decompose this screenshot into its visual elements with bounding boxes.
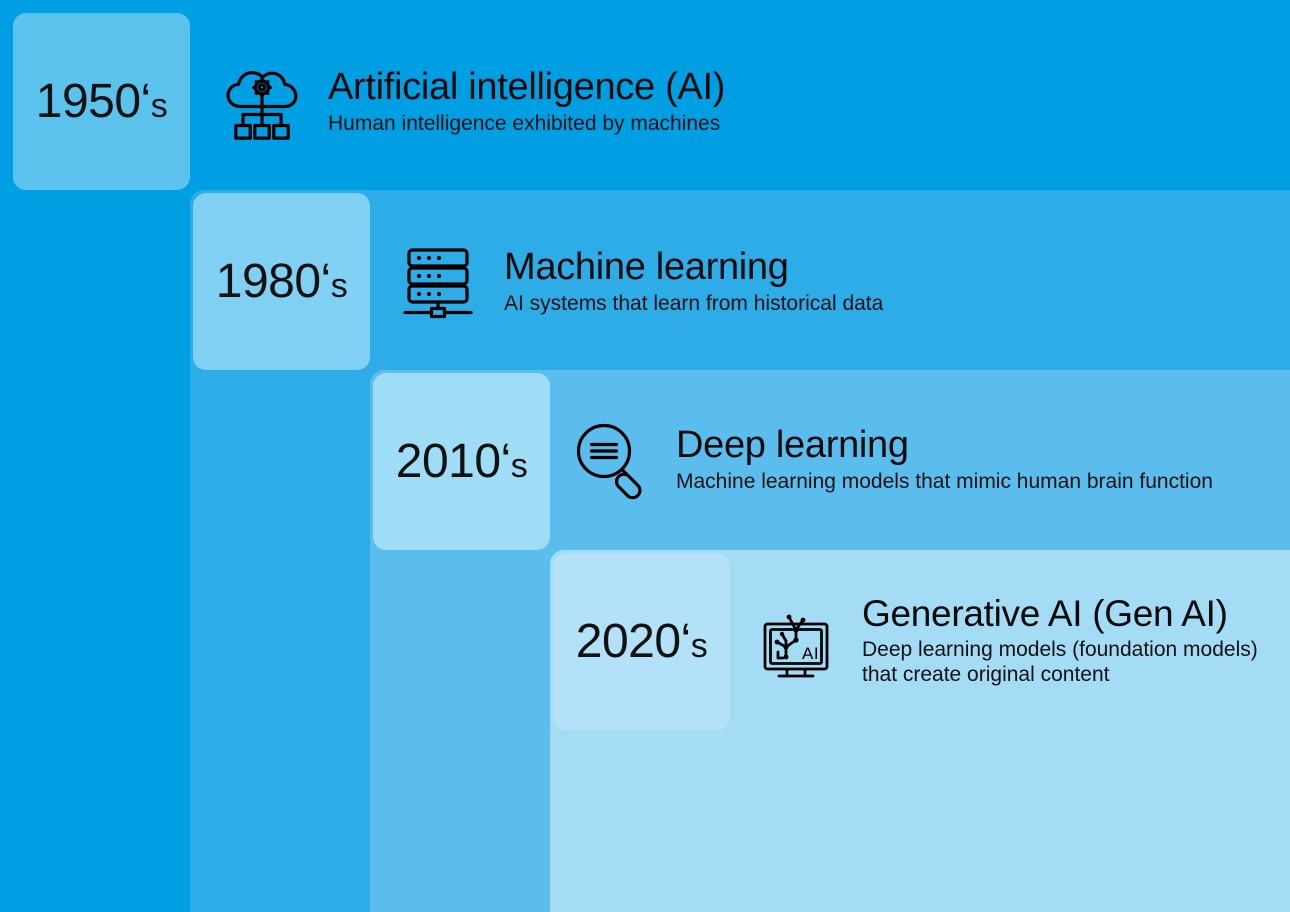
year-chip-2020s: 2020‘s [553,553,730,730]
cloud-network-gear-icon [218,58,306,146]
row-title-deep-learning: Deep learning [676,425,1213,466]
year-label-2010s: 2010‘s [396,434,527,489]
row-subtitle-artificial-intelligence: Human intelligence exhibited by machines [328,112,725,137]
row-title-generative-ai: Generative AI (Gen AI) [862,594,1258,634]
timeline-row-machine-learning: Machine learning AI systems that learn f… [394,238,883,326]
row-text-generative-ai: Generative AI (Gen AI) Deep learning mod… [862,594,1258,687]
ai-evolution-timeline-infographic: 1950‘s 1980‘s 2010‘s 2020‘s Artific [0,0,1290,912]
year-chip-1950s: 1950‘s [13,13,190,190]
timeline-row-deep-learning: Deep learning Machine learning models th… [566,416,1213,504]
year-chip-2010s: 2010‘s [373,373,550,550]
row-subtitle-deep-learning: Machine learning models that mimic human… [676,470,1213,495]
timeline-row-artificial-intelligence: Artificial intelligence (AI) Human intel… [218,58,725,146]
row-text-machine-learning: Machine learning AI systems that learn f… [504,247,883,317]
year-label-1950s: 1950‘s [36,74,167,129]
timeline-row-generative-ai: AI Generative AI (Gen AI) Deep learning … [752,594,1258,687]
row-title-artificial-intelligence: Artificial intelligence (AI) [328,67,725,108]
server-stack-icon [394,238,482,326]
year-label-2020s: 2020‘s [576,614,707,669]
year-label-1980s: 1980‘s [216,254,347,309]
row-text-artificial-intelligence: Artificial intelligence (AI) Human intel… [328,67,725,137]
row-subtitle-generative-ai: Deep learning models (foundation models)… [862,638,1258,688]
row-title-machine-learning: Machine learning [504,247,883,288]
year-chip-1980s: 1980‘s [193,193,370,370]
svg-text:AI: AI [802,644,819,663]
row-text-deep-learning: Deep learning Machine learning models th… [676,425,1213,495]
magnifier-lines-icon [566,416,654,504]
monitor-ai-network-icon: AI [752,597,840,685]
row-subtitle-machine-learning: AI systems that learn from historical da… [504,292,883,317]
